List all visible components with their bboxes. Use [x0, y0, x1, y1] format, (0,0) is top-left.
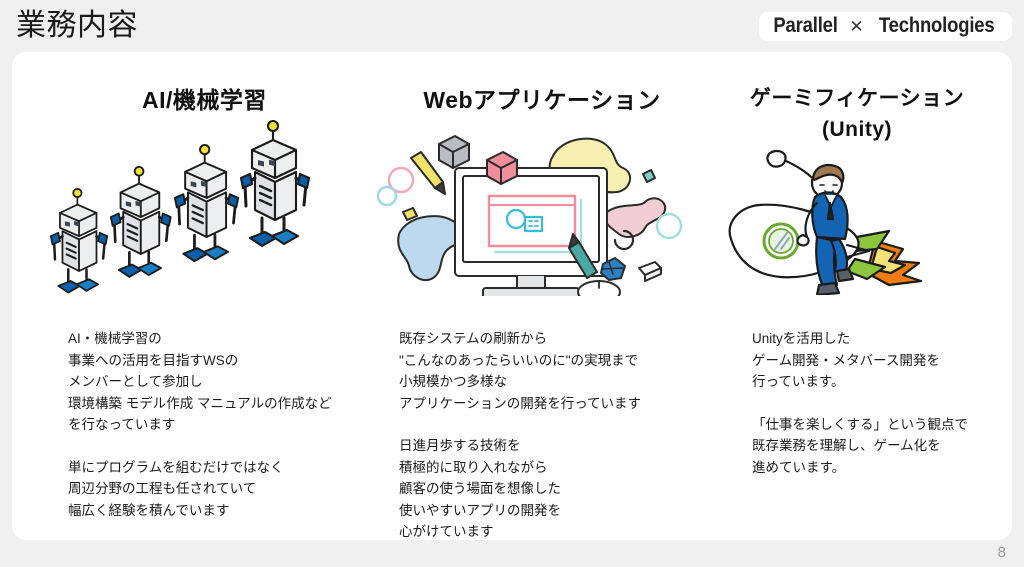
column-web-application: Webアプリケーション: [377, 52, 707, 540]
gray-cube: [439, 136, 469, 168]
desktop-monitor-illustration: [377, 116, 707, 296]
column-ai-machine-learning: AI/機械学習: [32, 52, 377, 540]
paragraph: Unityを活用した ゲーム開発・メタバース開発を 行っています。: [752, 328, 1012, 393]
page-title: 業務内容: [16, 6, 138, 46]
logo-right-word: Technologies: [878, 14, 994, 38]
column-text-gamification: Unityを活用した ゲーム開発・メタバース開発を 行っています。 「仕事を楽し…: [752, 328, 1012, 478]
businessman-on-rocket-illustration: [707, 145, 1007, 295]
paragraph: 日進月歩する技術を 積極的に取り入れながら 顧客の使う場面を想像した 使いやすい…: [399, 435, 709, 543]
column-text-web: 既存システムの刷新から "こんなのあったらいいのに"の実現まで 小規模かつ多様な…: [399, 328, 709, 543]
column-heading-web: Webアプリケーション: [377, 52, 707, 116]
lowered-hand: [797, 235, 808, 245]
rocket-svg: [707, 145, 1007, 295]
column-text-ai: AI・機械学習の 事業への活用を目指すWSの メンバーとして参加し 環境構築 モ…: [68, 328, 378, 521]
robot-3: [175, 145, 238, 261]
slide: 業務内容 Parallel ✕ Technologies AI/機械学習: [0, 0, 1024, 567]
teal-circle-outline: [657, 214, 681, 238]
column-heading-gamification: ゲーミフィケーション (Unity): [707, 52, 1007, 145]
pink-cube: [487, 152, 517, 184]
four-robots-illustration: [32, 116, 377, 296]
page-number: 8: [998, 544, 1006, 561]
logo-cross-icon: ✕: [849, 18, 863, 35]
raised-fist: [767, 151, 785, 167]
teal-diamond: [643, 170, 655, 182]
column-heading-line1: ゲーミフィケーション: [707, 83, 1007, 114]
robots-svg: [32, 116, 377, 296]
paragraph: 既存システムの刷新から "こんなのあったらいいのに"の実現まで 小規模かつ多様な…: [399, 328, 709, 414]
column-gamification: ゲーミフィケーション (Unity): [707, 52, 1007, 540]
paragraph: AI・機械学習の 事業への活用を目指すWSの メンバーとして参加し 環境構築 モ…: [68, 328, 378, 436]
slide-header: 業務内容 Parallel ✕ Technologies: [0, 0, 1024, 52]
column-heading-ai: AI/機械学習: [32, 52, 377, 116]
company-logo: Parallel ✕ Technologies: [759, 12, 1012, 41]
paragraph: 単にプログラムを組むだけではなく 周辺分野の工程も任されていて 幅広く経験を積ん…: [68, 457, 378, 522]
robot-2: [111, 167, 171, 277]
robot-1: [51, 189, 107, 293]
shoe-front: [817, 283, 839, 295]
eraser: [639, 262, 661, 281]
content-card: AI/機械学習: [12, 52, 1012, 540]
pink-dotted-blob: [604, 198, 665, 237]
mouse: [578, 281, 620, 296]
robot-4: [241, 121, 309, 246]
cyan-circle-outline: [378, 187, 396, 205]
yellow-diamond: [403, 208, 417, 220]
screen-content: [489, 196, 581, 252]
paragraph: 「仕事を楽しくする」という観点で 既存業務を理解し、ゲーム化を 進めています。: [752, 414, 1012, 479]
shoe-back: [837, 269, 853, 281]
column-heading-line2: (Unity): [707, 114, 1007, 145]
logo-left-word: Parallel: [774, 14, 838, 38]
monitor-svg: [377, 116, 707, 296]
